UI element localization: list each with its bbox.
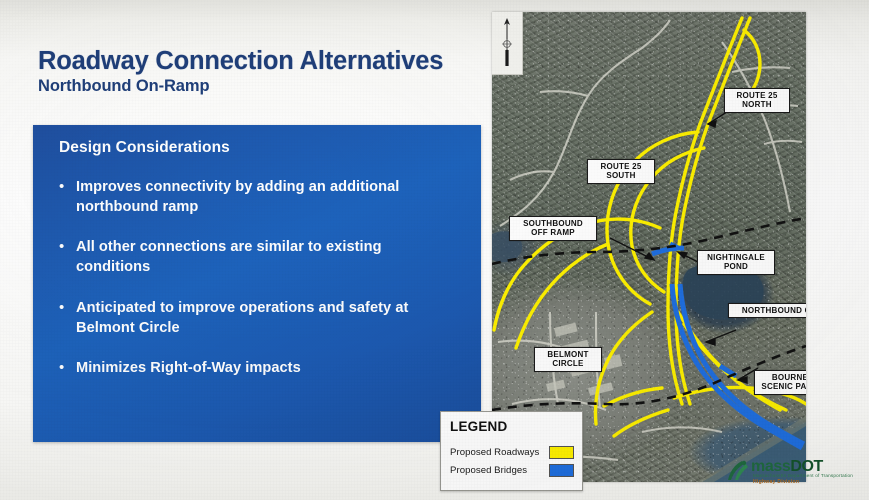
legend-swatch-roadways <box>549 446 574 459</box>
design-considerations-panel: Design Considerations • Improves connect… <box>33 125 481 442</box>
map-label-route-25-south: ROUTE 25 SOUTH <box>587 159 655 184</box>
north-arrow-box <box>492 12 523 75</box>
panel-heading: Design Considerations <box>59 139 230 157</box>
list-item: • Improves connectivity by adding an add… <box>59 177 465 217</box>
legend-title: LEGEND <box>450 419 507 434</box>
legend-row-proposed-roadways: Proposed Roadways <box>450 445 574 459</box>
legend-label: Proposed Roadways <box>450 447 539 458</box>
map-label-nightingale-pond: NIGHTINGALE POND <box>697 250 775 275</box>
map-label-southbound-off-ramp: SOUTHBOUND OFF RAMP <box>509 216 597 241</box>
map-label-belmont-circle: BELMONT CIRCLE <box>534 347 602 372</box>
bullet-text: Minimizes Right-of-Way impacts <box>76 358 301 378</box>
north-arrow-icon <box>492 12 522 74</box>
presentation-slide: Roadway Connection Alternatives Northbou… <box>0 0 869 500</box>
massdot-tagline: Massachusetts Department of Transportati… <box>753 473 853 478</box>
massdot-division: Highway Division <box>753 479 799 485</box>
legend-box: LEGEND Proposed Roadways Proposed Bridge… <box>440 411 583 491</box>
bullet-text: All other connections are similar to exi… <box>76 237 454 277</box>
list-item: • All other connections are similar to e… <box>59 237 465 277</box>
bullet-marker-icon: • <box>59 237 76 277</box>
bullet-text: Anticipated to improve operations and sa… <box>76 298 454 338</box>
legend-label: Proposed Bridges <box>450 465 527 476</box>
page-subtitle: Northbound On-Ramp <box>38 77 478 95</box>
bullet-marker-icon: • <box>59 177 76 217</box>
massdot-logo-mark-icon <box>726 460 752 482</box>
massdot-logo: massDOT Massachusetts Department of Tran… <box>726 458 848 488</box>
bullet-marker-icon: • <box>59 298 76 338</box>
page-title: Roadway Connection Alternatives <box>38 48 478 75</box>
list-item: • Minimizes Right-of-Way impacts <box>59 358 465 378</box>
title-block: Roadway Connection Alternatives Northbou… <box>38 48 478 95</box>
map-label-route-25-north: ROUTE 25 NORTH <box>724 88 790 113</box>
list-item: • Anticipated to improve operations and … <box>59 298 465 338</box>
legend-row-proposed-bridges: Proposed Bridges <box>450 463 574 477</box>
legend-swatch-bridges <box>549 464 574 477</box>
map-label-northbound-on-ramp: NORTHBOUND ON RAMP <box>728 303 806 318</box>
bullet-text: Improves connectivity by adding an addit… <box>76 177 454 217</box>
bullet-marker-icon: • <box>59 358 76 378</box>
map-label-bourne-scenic-park: BOURNE SCENIC PARK <box>754 370 806 395</box>
bullet-list: • Improves connectivity by adding an add… <box>59 177 465 398</box>
